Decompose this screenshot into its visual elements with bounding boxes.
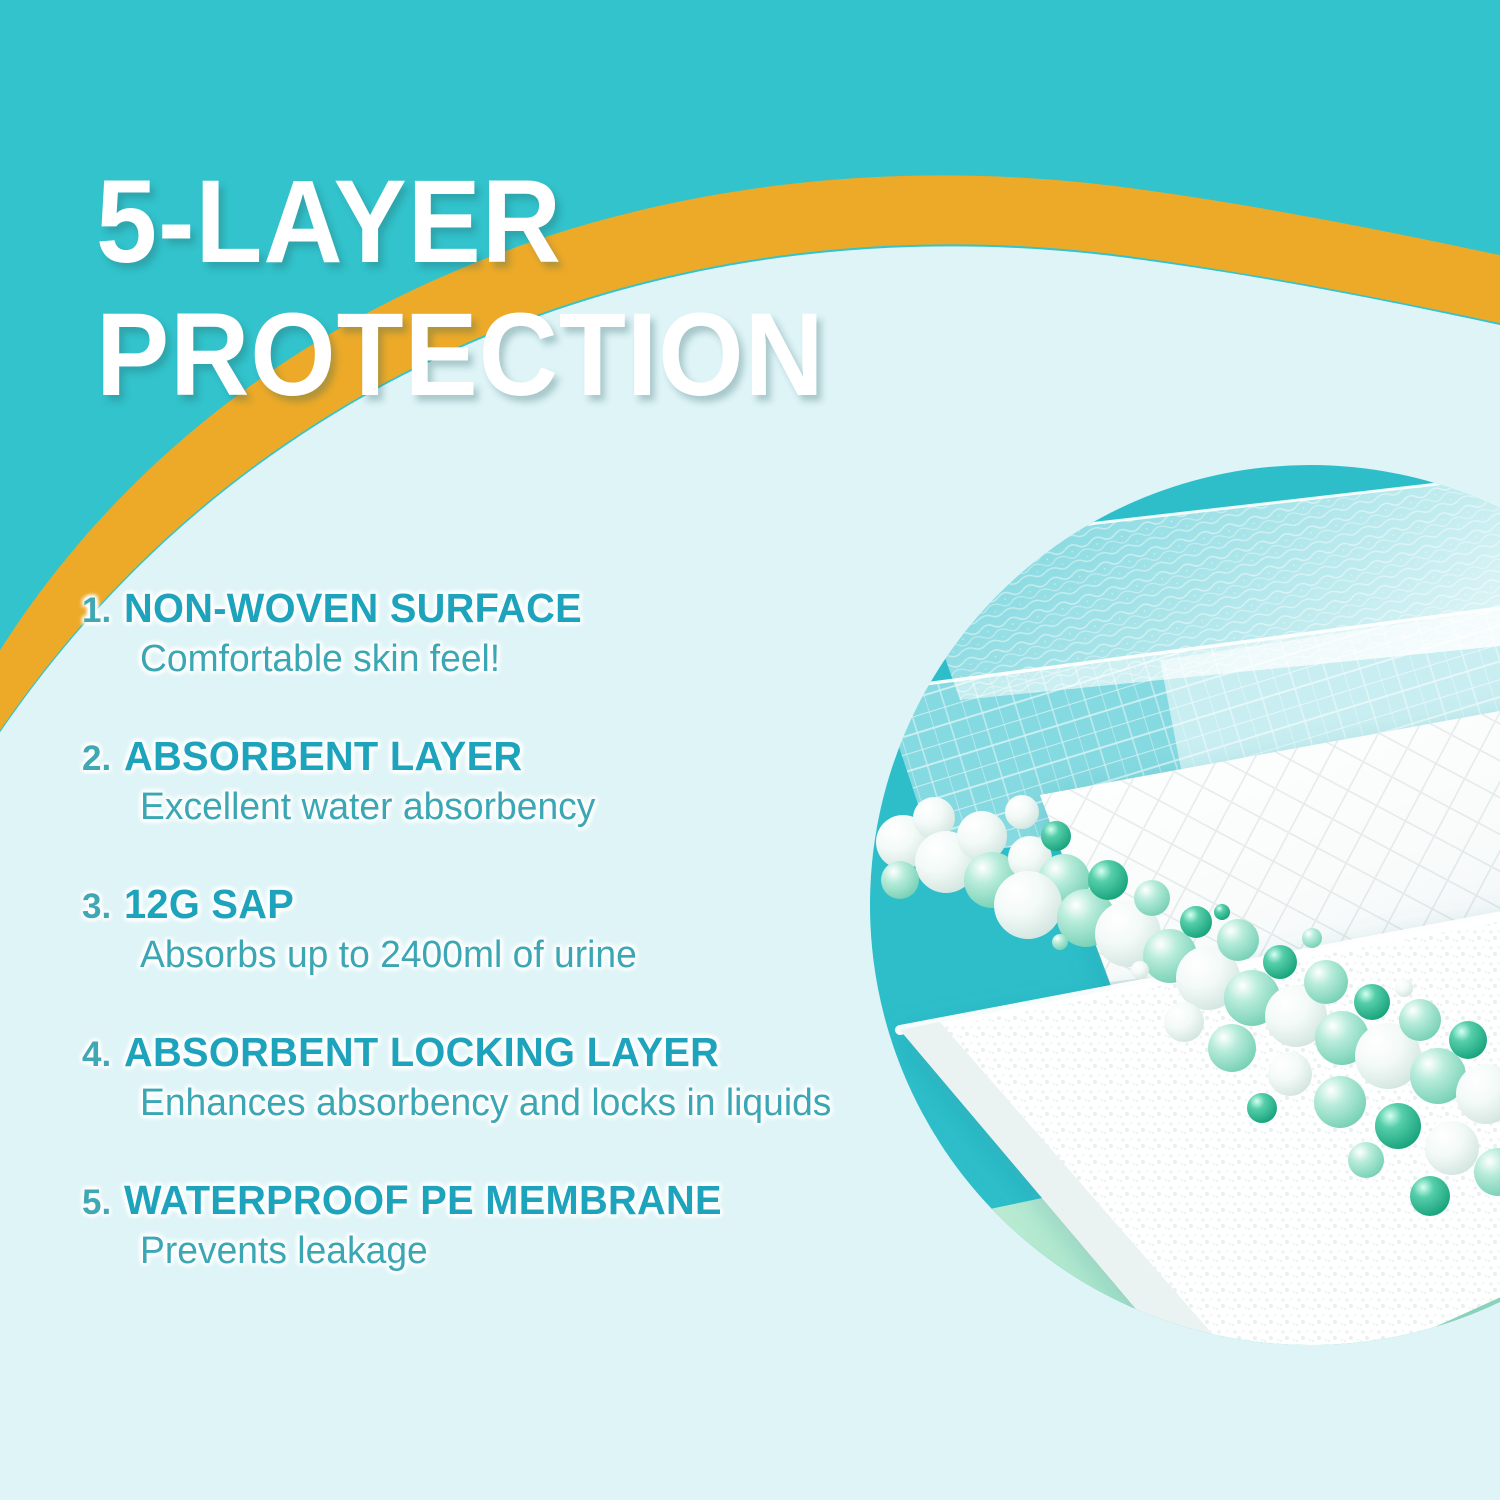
feature-number: 2. — [82, 739, 111, 779]
feature-description: Enhances absorbency and locks in liquids — [140, 1082, 897, 1125]
feature-heading-row: 5. WATERPROOF PE MEMBRANE — [82, 1177, 912, 1224]
infographic-canvas: 5-LAYER PROTECTION 1. NON-WOVEN SURFACE … — [0, 0, 1500, 1500]
feature-number: 3. — [82, 887, 111, 927]
feature-item-non-woven-surface: 1. NON-WOVEN SURFACE Comfortable skin fe… — [82, 585, 912, 681]
feature-heading: 12G SAP — [124, 881, 294, 928]
feature-heading: NON-WOVEN SURFACE — [124, 585, 582, 632]
feature-number: 4. — [82, 1035, 111, 1075]
feature-heading-row: 1. NON-WOVEN SURFACE — [82, 585, 912, 632]
feature-description: Absorbs up to 2400ml of urine — [140, 934, 897, 977]
feature-heading-row: 3. 12G SAP — [82, 881, 912, 928]
feature-number: 5. — [82, 1183, 111, 1223]
feature-heading: ABSORBENT LAYER — [124, 733, 522, 780]
feature-item-12g-sap: 3. 12G SAP Absorbs up to 2400ml of urine — [82, 881, 912, 977]
feature-description: Excellent water absorbency — [140, 786, 897, 829]
feature-number: 1. — [82, 591, 111, 631]
feature-item-absorbent-layer: 2. ABSORBENT LAYER Excellent water absor… — [82, 733, 912, 829]
feature-item-absorbent-locking-layer: 4. ABSORBENT LOCKING LAYER Enhances abso… — [82, 1029, 912, 1125]
feature-item-waterproof-pe-membrane: 5. WATERPROOF PE MEMBRANE Prevents leaka… — [82, 1177, 912, 1273]
feature-heading: WATERPROOF PE MEMBRANE — [124, 1177, 722, 1224]
feature-description: Comfortable skin feel! — [140, 638, 897, 681]
feature-list: 1. NON-WOVEN SURFACE Comfortable skin fe… — [82, 585, 912, 1273]
feature-description: Prevents leakage — [140, 1230, 897, 1273]
feature-heading: ABSORBENT LOCKING LAYER — [124, 1029, 719, 1076]
feature-heading-row: 4. ABSORBENT LOCKING LAYER — [82, 1029, 912, 1076]
feature-heading-row: 2. ABSORBENT LAYER — [82, 733, 912, 780]
